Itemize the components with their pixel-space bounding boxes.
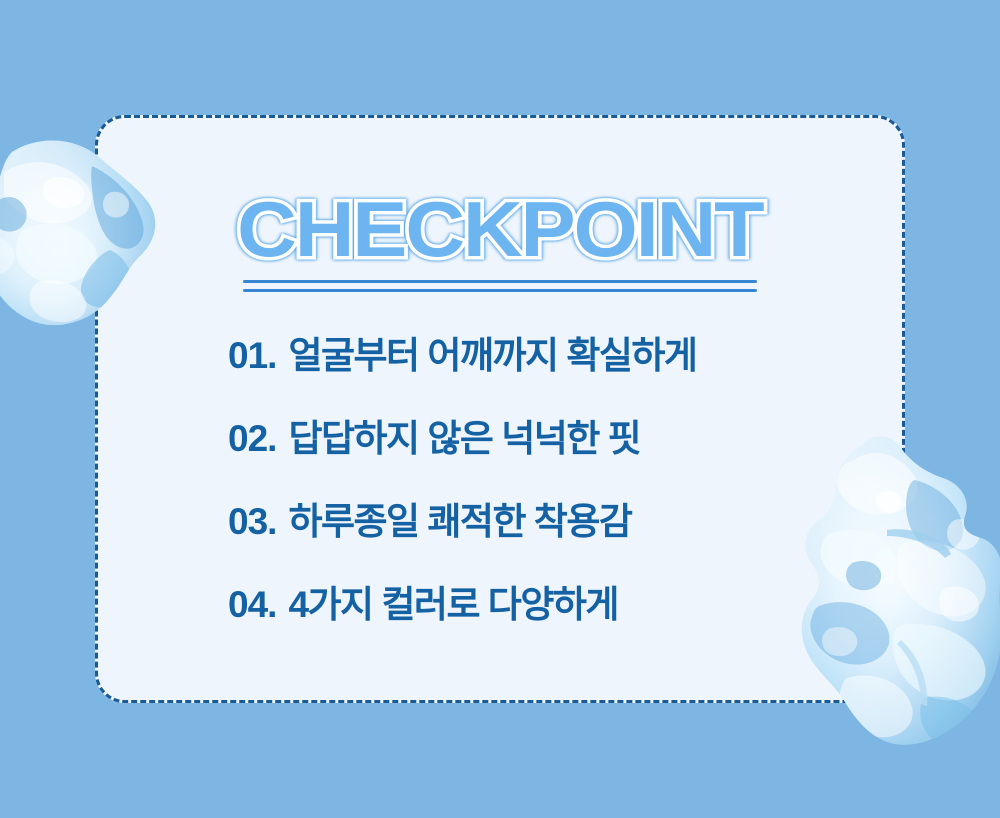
list-item-number: 02. bbox=[228, 417, 276, 461]
ice-cube-left-icon bbox=[0, 132, 167, 337]
list-item-number: 03. bbox=[228, 500, 276, 544]
list-item-label: 하루종일 쾌적한 착용감 bbox=[288, 500, 631, 544]
title-block: CHECKPOINT bbox=[95, 185, 905, 273]
title-underline-bottom bbox=[243, 289, 757, 292]
list-item-label: 답답하지 않은 넉넉한 핏 bbox=[288, 417, 640, 461]
page-title: CHECKPOINT bbox=[237, 185, 762, 273]
list-item-label: 4가지 컬러로 다양하게 bbox=[288, 583, 618, 627]
list-item: 04. 4가지 컬러로 다양하게 bbox=[228, 583, 828, 666]
title-underline-top bbox=[243, 280, 757, 283]
list-item-number: 04. bbox=[228, 583, 276, 627]
checklist: 01. 얼굴부터 어깨까지 확실하게 02. 답답하지 않은 넉넉한 핏 03.… bbox=[228, 334, 828, 666]
list-item: 02. 답답하지 않은 넉넉한 핏 bbox=[228, 417, 828, 500]
title-underline-group bbox=[243, 280, 757, 294]
list-item: 01. 얼굴부터 어깨까지 확실하게 bbox=[228, 334, 828, 417]
poster-canvas: CHECKPOINT 01. 얼굴부터 어깨까지 확실하게 02. 답답하지 않… bbox=[0, 0, 1000, 818]
list-item-number: 01. bbox=[228, 334, 276, 378]
list-item: 03. 하루종일 쾌적한 착용감 bbox=[228, 500, 828, 583]
list-item-label: 얼굴부터 어깨까지 확실하게 bbox=[288, 334, 696, 378]
ice-cube-right-icon bbox=[795, 430, 1000, 760]
